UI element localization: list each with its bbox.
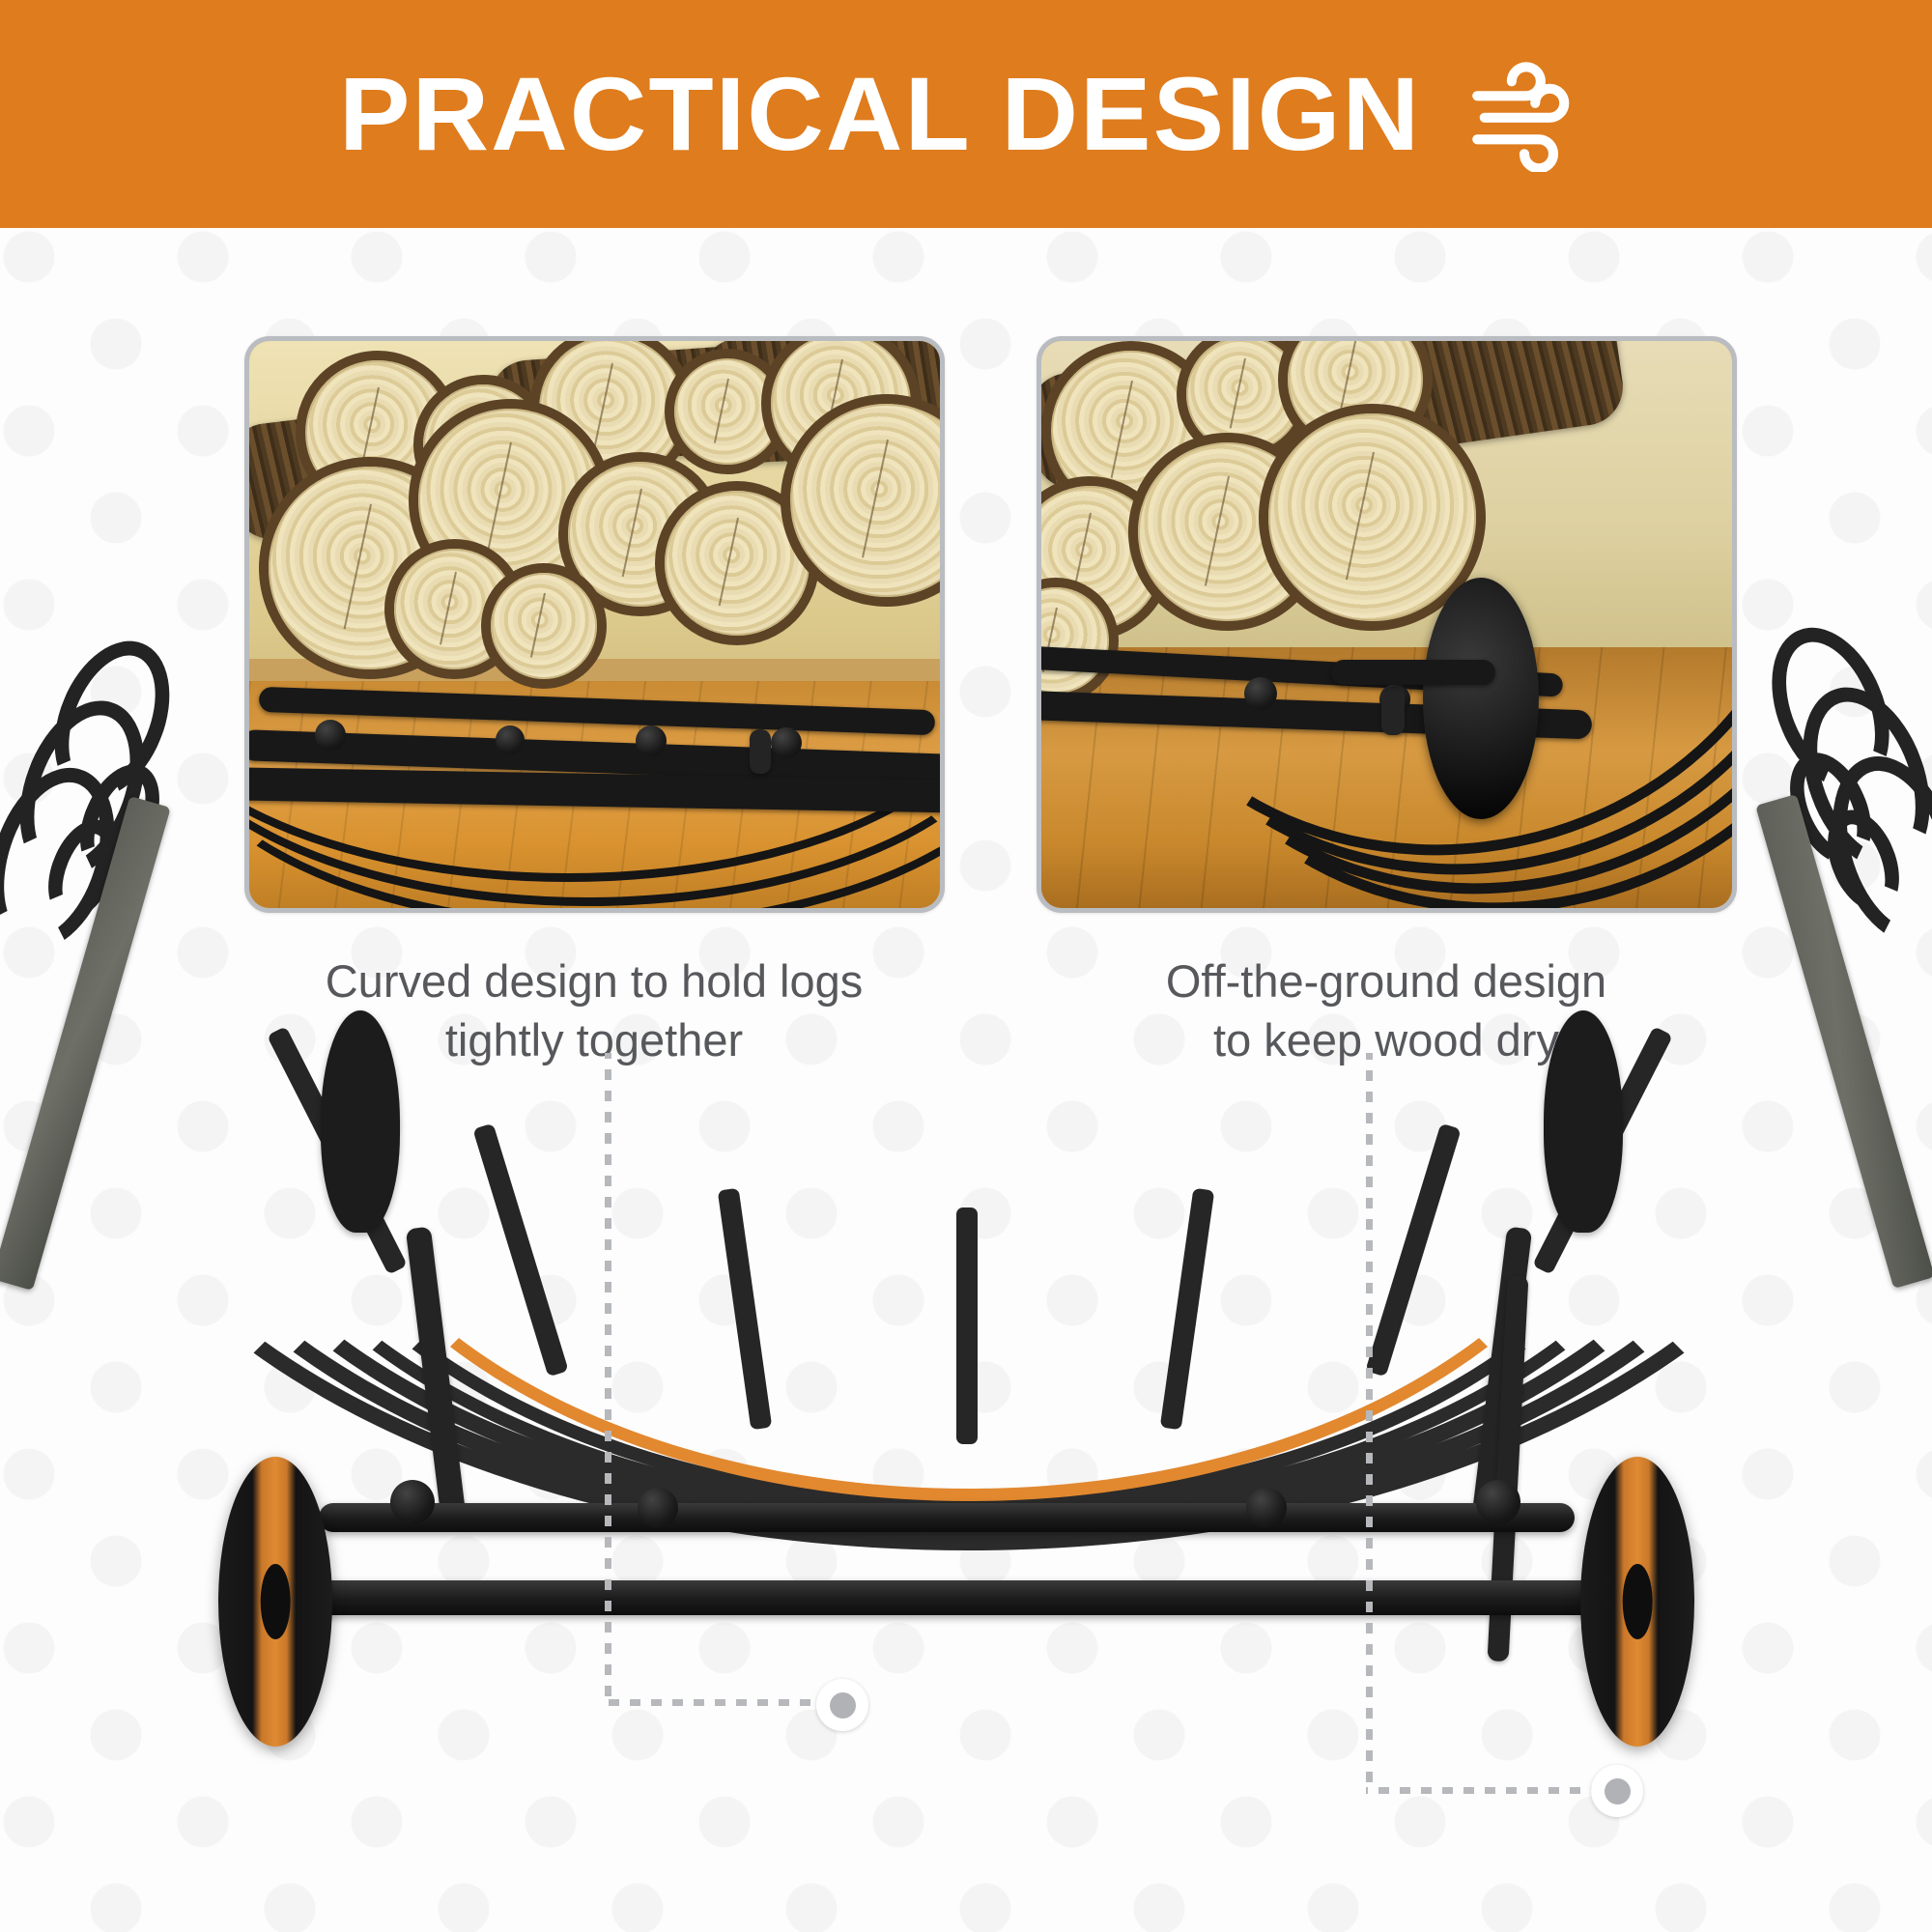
page-title: PRACTICAL DESIGN [339, 62, 1421, 166]
base-rail-lower [282, 1580, 1615, 1615]
callout-dot-curved-design[interactable] [816, 1679, 868, 1731]
rail-knob [638, 1488, 678, 1528]
callout-line-right-vertical [1366, 1053, 1373, 1789]
callout-line-left-horizontal [605, 1699, 846, 1706]
header-banner: PRACTICAL DESIGN [0, 0, 1932, 228]
wheel-hub [261, 1564, 291, 1639]
callout-line-right-horizontal [1366, 1787, 1625, 1794]
wheel-left [218, 1457, 332, 1747]
wind-icon [1466, 56, 1582, 172]
rail-knob [390, 1480, 435, 1524]
base-rail-upper [319, 1503, 1575, 1532]
wheel-right [1580, 1457, 1694, 1747]
log-end [674, 358, 781, 465]
callout-dot-off-the-ground[interactable] [1591, 1765, 1643, 1817]
rail-knob [1476, 1480, 1520, 1524]
callout-line-left-vertical [605, 1053, 611, 1702]
support-caster-right [1544, 1010, 1623, 1233]
product-image-log-rack [0, 734, 1932, 1932]
support-caster-left [321, 1010, 400, 1233]
callout-dot-center [830, 1692, 856, 1719]
wheel-hub [1623, 1564, 1653, 1639]
rail-knob [1246, 1488, 1287, 1528]
cross-brace [956, 1207, 978, 1444]
product-feature-page: PRACTICAL DESIGN [0, 0, 1932, 1932]
callout-dot-center [1605, 1778, 1631, 1804]
